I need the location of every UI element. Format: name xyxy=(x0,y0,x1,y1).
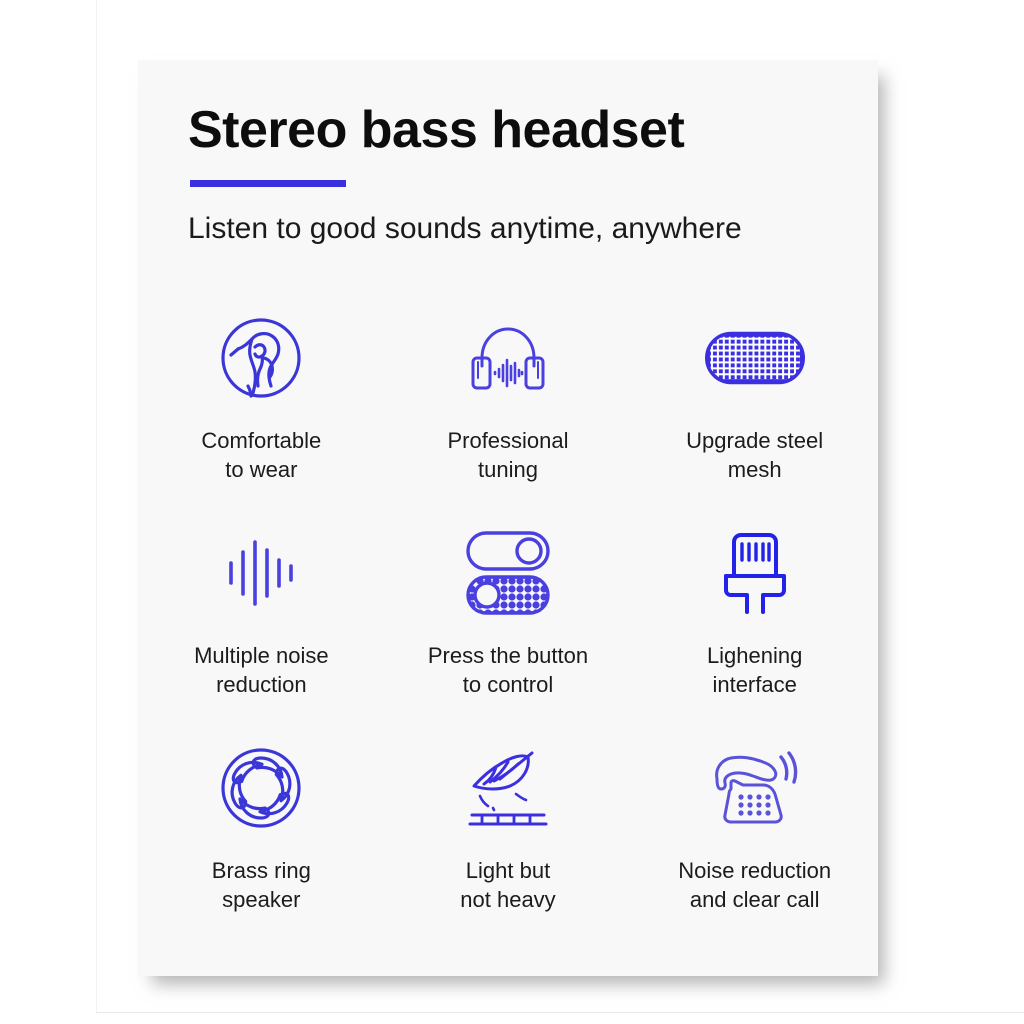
feature-label: Upgrade steel mesh xyxy=(686,426,823,484)
feature-item-comfortable-to-wear: Comfortable to wear xyxy=(138,312,385,527)
card-content: Stereo bass headset Listen to good sound… xyxy=(138,60,878,976)
head-with-headphones-circle-icon xyxy=(211,312,311,404)
feature-label: Comfortable to wear xyxy=(201,426,321,484)
steel-mesh-pill-icon xyxy=(705,312,805,404)
feature-label: Professional tuning xyxy=(447,426,568,484)
feature-item-brass-ring-speaker: Brass ring speaker xyxy=(138,742,385,957)
feature-item-press-the-button: Press the button to control xyxy=(385,527,632,742)
feature-label: Noise reduction and clear call xyxy=(678,856,831,914)
feature-item-lighening-interface: Lighening interface xyxy=(631,527,878,742)
page-frame-bottom-line xyxy=(96,1012,1024,1013)
page-title: Stereo bass headset xyxy=(188,100,684,160)
lightning-connector-icon xyxy=(705,527,805,619)
page-subtitle: Listen to good sounds anytime, anywhere xyxy=(188,212,742,246)
feather-scale-icon xyxy=(458,742,558,834)
feature-item-upgrade-steel-mesh: Upgrade steel mesh xyxy=(631,312,878,527)
product-feature-card: Stereo bass headset Listen to good sound… xyxy=(138,60,878,976)
feature-item-noise-reduction-clear-call: Noise reduction and clear call xyxy=(631,742,878,957)
feature-label: Lighening interface xyxy=(707,641,802,699)
feature-label: Light but not heavy xyxy=(460,856,555,914)
page-background: Stereo bass headset Listen to good sound… xyxy=(0,0,1024,1024)
page-frame-left-line xyxy=(96,0,97,1013)
feature-label: Multiple noise reduction xyxy=(194,641,329,699)
feature-label: Press the button to control xyxy=(428,641,588,699)
feature-item-light-but-not-heavy: Light but not heavy xyxy=(385,742,632,957)
headphones-soundwave-icon xyxy=(458,312,558,404)
feature-item-professional-tuning: Professional tuning xyxy=(385,312,632,527)
title-accent-bar xyxy=(190,180,346,187)
telephone-soundwave-icon xyxy=(705,742,805,834)
aperture-ring-icon xyxy=(211,742,311,834)
soundwave-bars-icon xyxy=(211,527,311,619)
feature-item-multiple-noise-reduction: Multiple noise reduction xyxy=(138,527,385,742)
feature-label: Brass ring speaker xyxy=(212,856,311,914)
feature-grid: Comfortable to wear xyxy=(138,312,878,957)
toggle-switches-icon xyxy=(458,527,558,619)
